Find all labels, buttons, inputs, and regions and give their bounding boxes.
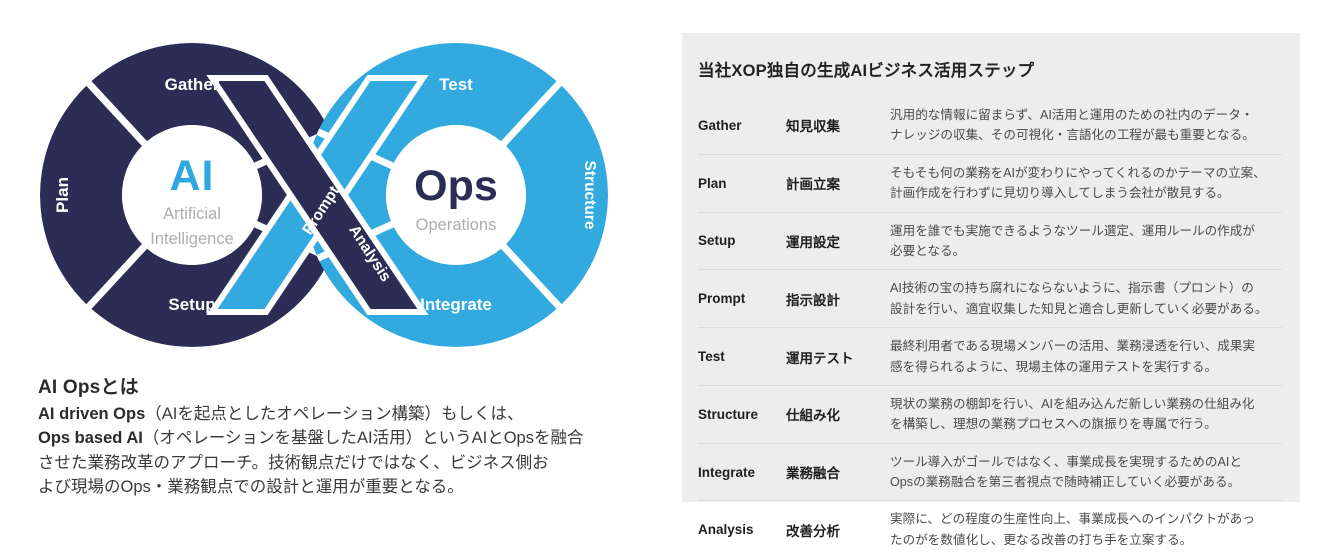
caption-line-3: させた業務改革のアプローチ。技術観点だけではなく、ビジネス側お xyxy=(38,451,658,475)
steps-table: Gather知見収集汎用的な情報に留まらず、AI活用と運用のための社内のデータ・… xyxy=(698,97,1282,558)
step-description-line: Opsの業務融合を第三者視点で随時補正していく必要がある。 xyxy=(890,472,1282,492)
table-row: Structure仕組み化現状の業務の棚卸を行い、AIを組み込んだ新しい業務の仕… xyxy=(698,385,1282,443)
caption-line-2: Ops based AI（オペレーションを基盤したAI活用）というAIとOpsを… xyxy=(38,426,658,450)
left-column: Gather Plan Setup Test Structure Integra… xyxy=(0,0,672,531)
caption-block: AI Opsとは AI driven Ops（AIを起点としたオペレーション構築… xyxy=(38,372,658,500)
step-en-label: Integrate xyxy=(698,443,786,501)
table-row: Integrate業務融合ツール導入がゴールではなく、事業成長を実現するためのA… xyxy=(698,443,1282,501)
segment-label-gather: Gather xyxy=(165,75,220,94)
left-core-title: AI xyxy=(170,152,215,200)
segment-label-test: Test xyxy=(439,75,473,94)
caption-line-1: AI driven Ops（AIを起点としたオペレーション構築）もしくは、 xyxy=(38,402,658,426)
step-description-line: 現状の業務の棚卸を行い、AIを組み込んだ新しい業務の仕組み化 xyxy=(890,394,1282,414)
step-description: そもそも何の業務をAIが変わりにやってくれるのかテーマの立案、計画作成を行わずに… xyxy=(890,154,1282,212)
step-jp-label: 業務融合 xyxy=(786,443,890,501)
step-description-line: 汎用的な情報に留まらず、AI活用と運用のための社内のデータ・ xyxy=(890,105,1282,125)
step-jp-label: 運用設定 xyxy=(786,212,890,270)
step-description-line: 運用を誰でも実施できるようなツール選定、運用ルールの作成が xyxy=(890,221,1282,241)
left-core-subtitle-line1: Artificial xyxy=(163,205,221,223)
step-en-label: Analysis xyxy=(698,501,786,558)
step-description-line: 設計を行い、適宜収集した知見と適合し更新していく必要がある。 xyxy=(890,299,1282,319)
caption-line-1-rest: （AIを起点としたオペレーション構築）もしくは、 xyxy=(145,405,523,423)
step-description: AI技術の宝の持ち腐れにならないように、指示書（プロント）の設計を行い、適宜収集… xyxy=(890,270,1282,328)
caption-line-2-rest: （オペレーションを基盤したAI活用）というAIとOpsを融合 xyxy=(143,429,584,447)
step-description: 現状の業務の棚卸を行い、AIを組み込んだ新しい業務の仕組み化を構築し、理想の業務… xyxy=(890,385,1282,443)
step-description-line: そもそも何の業務をAIが変わりにやってくれるのかテーマの立案、 xyxy=(890,163,1282,183)
segment-label-structure: Structure xyxy=(581,161,598,230)
step-description-line: たのがを数値化し、更なる改善の打ち手を立案する。 xyxy=(890,530,1282,550)
segment-label-plan: Plan xyxy=(53,177,72,213)
table-row: Plan計画立案そもそも何の業務をAIが変わりにやってくれるのかテーマの立案、計… xyxy=(698,154,1282,212)
step-jp-label: 知見収集 xyxy=(786,97,890,154)
step-en-label: Setup xyxy=(698,212,786,270)
step-jp-label: 改善分析 xyxy=(786,501,890,558)
table-row: Test運用テスト最終利用者である現場メンバーの活用、業務浸透を行い、成果実感を… xyxy=(698,328,1282,386)
steps-panel: 当社XOP独自の生成AIビジネス活用ステップ Gather知見収集汎用的な情報に… xyxy=(682,33,1300,502)
table-row: Setup運用設定運用を誰でも実施できるようなツール選定、運用ルールの作成が必要… xyxy=(698,212,1282,270)
step-description-line: 実際に、どの程度の生産性向上、事業成長へのインパクトがあっ xyxy=(890,509,1282,529)
table-row: Gather知見収集汎用的な情報に留まらず、AI活用と運用のための社内のデータ・… xyxy=(698,97,1282,154)
step-description-line: 必要となる。 xyxy=(890,241,1282,261)
segment-label-setup: Setup xyxy=(168,295,215,314)
step-jp-label: 運用テスト xyxy=(786,328,890,386)
step-description-line: AI技術の宝の持ち腐れにならないように、指示書（プロント）の xyxy=(890,278,1282,298)
step-description: 実際に、どの程度の生産性向上、事業成長へのインパクトがあったのがを数値化し、更な… xyxy=(890,501,1282,558)
step-jp-label: 計画立案 xyxy=(786,154,890,212)
caption-line-1-bold: AI driven Ops xyxy=(38,405,145,423)
step-description-line: ツール導入がゴールではなく、事業成長を実現するためのAIと xyxy=(890,452,1282,472)
right-core-title: Ops xyxy=(414,162,498,210)
table-row: Analysis改善分析実際に、どの程度の生産性向上、事業成長へのインパクトがあ… xyxy=(698,501,1282,558)
step-description-line: 最終利用者である現場メンバーの活用、業務浸透を行い、成果実 xyxy=(890,336,1282,356)
step-description-line: 計画作成を行わずに見切り導入してしまう会社が散見する。 xyxy=(890,183,1282,203)
step-description-line: を構築し、理想の業務プロセスへの旗振りを専属で行う。 xyxy=(890,414,1282,434)
step-description: 最終利用者である現場メンバーの活用、業務浸透を行い、成果実感を得られるように、現… xyxy=(890,328,1282,386)
step-en-label: Gather xyxy=(698,97,786,154)
table-row: Prompt指示設計AI技術の宝の持ち腐れにならないように、指示書（プロント）の… xyxy=(698,270,1282,328)
step-description: ツール導入がゴールではなく、事業成長を実現するためのAIとOpsの業務融合を第三… xyxy=(890,443,1282,501)
step-en-label: Plan xyxy=(698,154,786,212)
step-description-line: ナレッジの収集、その可視化・言語化の工程が最も重要となる。 xyxy=(890,125,1282,145)
step-en-label: Prompt xyxy=(698,270,786,328)
steps-table-body: Gather知見収集汎用的な情報に留まらず、AI活用と運用のための社内のデータ・… xyxy=(698,97,1282,558)
step-en-label: Structure xyxy=(698,385,786,443)
segment-label-integrate: Integrate xyxy=(420,295,492,314)
caption-line-2-bold: Ops based AI xyxy=(38,429,143,447)
step-jp-label: 仕組み化 xyxy=(786,385,890,443)
left-core-subtitle-line2: Intelligence xyxy=(150,230,233,248)
right-core-subtitle: Operations xyxy=(416,216,497,234)
step-description-line: 感を得られるように、現場主体の運用テストを実行する。 xyxy=(890,357,1282,377)
caption-line-4: よび現場のOps・業務観点での設計と運用が重要となる。 xyxy=(38,475,658,499)
step-description: 運用を誰でも実施できるようなツール選定、運用ルールの作成が必要となる。 xyxy=(890,212,1282,270)
step-en-label: Test xyxy=(698,328,786,386)
ai-ops-infinity-diagram: Gather Plan Setup Test Structure Integra… xyxy=(24,34,624,356)
step-jp-label: 指示設計 xyxy=(786,270,890,328)
steps-panel-title: 当社XOP独自の生成AIビジネス活用ステップ xyxy=(698,57,1282,81)
step-description: 汎用的な情報に留まらず、AI活用と運用のための社内のデータ・ナレッジの収集、その… xyxy=(890,97,1282,154)
caption-heading: AI Opsとは xyxy=(38,372,658,399)
